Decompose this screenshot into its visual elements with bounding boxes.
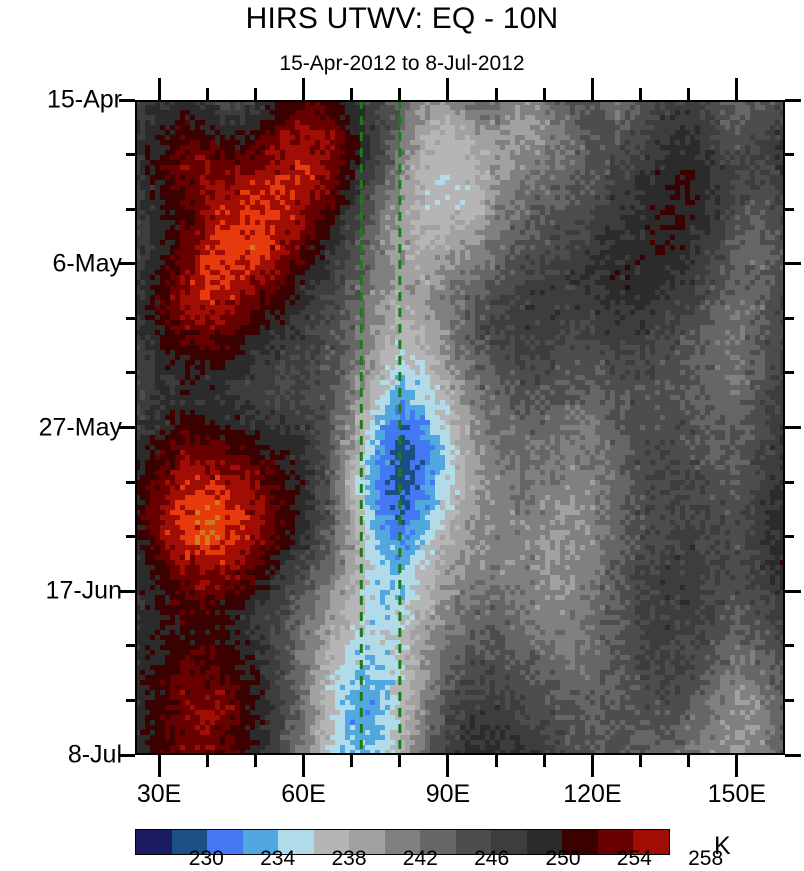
- y-minor-tick: [126, 699, 135, 702]
- x-minor-tick: [206, 755, 209, 767]
- y-major-tick: [785, 426, 801, 429]
- y-minor-tick: [126, 481, 135, 484]
- x-minor-tick: [254, 755, 257, 767]
- x-minor-tick: [495, 755, 498, 767]
- y-minor-tick: [126, 371, 135, 374]
- y-minor-tick: [785, 317, 794, 320]
- x-minor-tick: [206, 88, 209, 100]
- x-minor-tick: [687, 88, 690, 100]
- colorbar-tick-label: 238: [331, 847, 366, 871]
- x-major-tick: [591, 755, 594, 777]
- y-major-tick: [785, 590, 801, 593]
- y-major-tick: [119, 99, 135, 102]
- colorbar-tick-label: 234: [260, 847, 295, 871]
- y-minor-tick: [785, 699, 794, 702]
- x-minor-tick: [687, 755, 690, 767]
- x-axis-labels: 30E60E90E120E150E: [0, 0, 804, 869]
- x-minor-tick: [543, 755, 546, 767]
- colorbar-swatch: [136, 830, 172, 854]
- y-minor-tick: [126, 535, 135, 538]
- y-major-tick: [785, 754, 801, 757]
- x-major-tick: [158, 755, 161, 777]
- x-axis-tick-label: 150E: [708, 780, 766, 809]
- y-minor-tick: [126, 208, 135, 211]
- x-minor-tick: [495, 88, 498, 100]
- x-major-tick: [158, 78, 161, 100]
- y-major-tick: [119, 426, 135, 429]
- y-major-tick: [119, 262, 135, 265]
- x-minor-tick: [350, 88, 353, 100]
- x-minor-tick: [398, 88, 401, 100]
- x-major-tick: [446, 755, 449, 777]
- y-minor-tick: [785, 208, 794, 211]
- y-minor-tick: [785, 644, 794, 647]
- y-minor-tick: [126, 317, 135, 320]
- y-minor-tick: [785, 481, 794, 484]
- x-major-tick: [302, 78, 305, 100]
- x-major-tick: [735, 78, 738, 100]
- x-axis-tick-label: 60E: [281, 780, 325, 809]
- x-major-tick: [735, 755, 738, 777]
- x-axis-tick-label: 120E: [563, 780, 621, 809]
- y-minor-tick: [785, 371, 794, 374]
- x-major-tick: [446, 78, 449, 100]
- y-major-tick: [785, 99, 801, 102]
- y-major-tick: [785, 262, 801, 265]
- colorbar-tick-label: 230: [189, 847, 224, 871]
- x-axis-tick-label: 90E: [426, 780, 470, 809]
- x-major-tick: [591, 78, 594, 100]
- x-minor-tick: [254, 88, 257, 100]
- y-minor-tick: [785, 153, 794, 156]
- y-minor-tick: [785, 535, 794, 538]
- y-major-tick: [119, 590, 135, 593]
- y-minor-tick: [126, 644, 135, 647]
- colorbar-tick-label: 246: [474, 847, 509, 871]
- colorbar-tick-label: 258: [688, 847, 723, 871]
- x-minor-tick: [350, 755, 353, 767]
- y-major-tick: [119, 754, 135, 757]
- x-major-tick: [302, 755, 305, 777]
- x-axis-tick-label: 30E: [137, 780, 181, 809]
- colorbar-tick-label: 254: [617, 847, 652, 871]
- x-minor-tick: [639, 755, 642, 767]
- x-minor-tick: [543, 88, 546, 100]
- colorbar-tick-label: 250: [545, 847, 580, 871]
- x-minor-tick: [639, 88, 642, 100]
- x-minor-tick: [398, 755, 401, 767]
- colorbar-tick-label: 242: [403, 847, 438, 871]
- y-minor-tick: [126, 153, 135, 156]
- hovmoller-figure: HIRS UTWV: EQ - 10N 15-Apr-2012 to 8-Jul…: [0, 0, 804, 869]
